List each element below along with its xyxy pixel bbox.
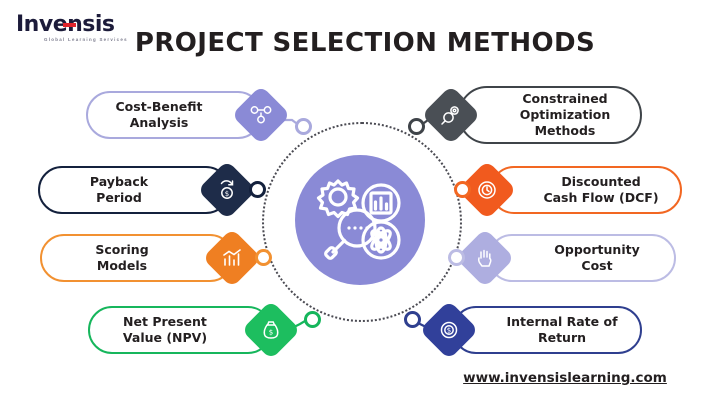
svg-text:$: $: [447, 327, 451, 335]
method-badge-scoring-models: [202, 228, 261, 287]
method-card-opportunity-cost[interactable]: Opportunity Cost: [488, 234, 676, 282]
method-label-payback-period: Payback Period: [90, 174, 178, 206]
ring-node-npv: [304, 311, 321, 328]
method-label-scoring-models: Scoring Models: [95, 242, 178, 274]
hand-choice-icon: [464, 237, 506, 279]
method-card-discounted-cash-flow[interactable]: Discounted Cash Flow (DCF): [490, 166, 682, 214]
method-label-constrained-optimization-methods: Constrained Optimization Methods: [490, 91, 611, 139]
bar-chart-growth-icon: [211, 237, 253, 279]
method-badge-internal-rate-of-return: $: [419, 300, 478, 359]
coin-clock-icon: [466, 169, 508, 211]
svg-text:$: $: [225, 190, 229, 198]
ring-node-opportunity: [448, 249, 465, 266]
ring-node-irr: [404, 311, 421, 328]
cost-benefit-scale-icon: [240, 94, 282, 136]
method-badge-net-present-value: $: [241, 300, 300, 359]
money-bag-icon: $: [250, 309, 292, 351]
method-badge-payback-period: $: [197, 160, 256, 219]
method-label-internal-rate-of-return: Internal Rate of Return: [476, 314, 617, 346]
ring-node-cost-benefit: [295, 118, 312, 135]
svg-text:$: $: [269, 329, 273, 337]
method-label-net-present-value: Net Present Value (NPV): [123, 314, 237, 346]
method-badge-cost-benefit-analysis: [231, 85, 290, 144]
gear-magnifier-icon: [430, 94, 472, 136]
method-card-constrained-optimization-methods[interactable]: Constrained Optimization Methods: [458, 86, 642, 144]
ring-node-constrained: [408, 118, 425, 135]
method-label-cost-benefit-analysis: Cost-Benefit Analysis: [116, 99, 233, 131]
ring-node-payback: [249, 181, 266, 198]
method-badge-constrained-optimization-methods: [421, 85, 480, 144]
method-card-internal-rate-of-return[interactable]: Internal Rate of Return: [452, 306, 642, 354]
method-label-opportunity-cost: Opportunity Cost: [524, 242, 639, 274]
infographic-canvas: Invensis Global Learning Services PROJEC…: [0, 0, 720, 404]
dollar-coin-icon: $: [428, 309, 470, 351]
money-refresh-icon: $: [206, 169, 248, 211]
ring-node-scoring: [255, 249, 272, 266]
method-label-discounted-cash-flow: Discounted Cash Flow (DCF): [513, 174, 658, 206]
ring-node-dcf: [454, 181, 471, 198]
